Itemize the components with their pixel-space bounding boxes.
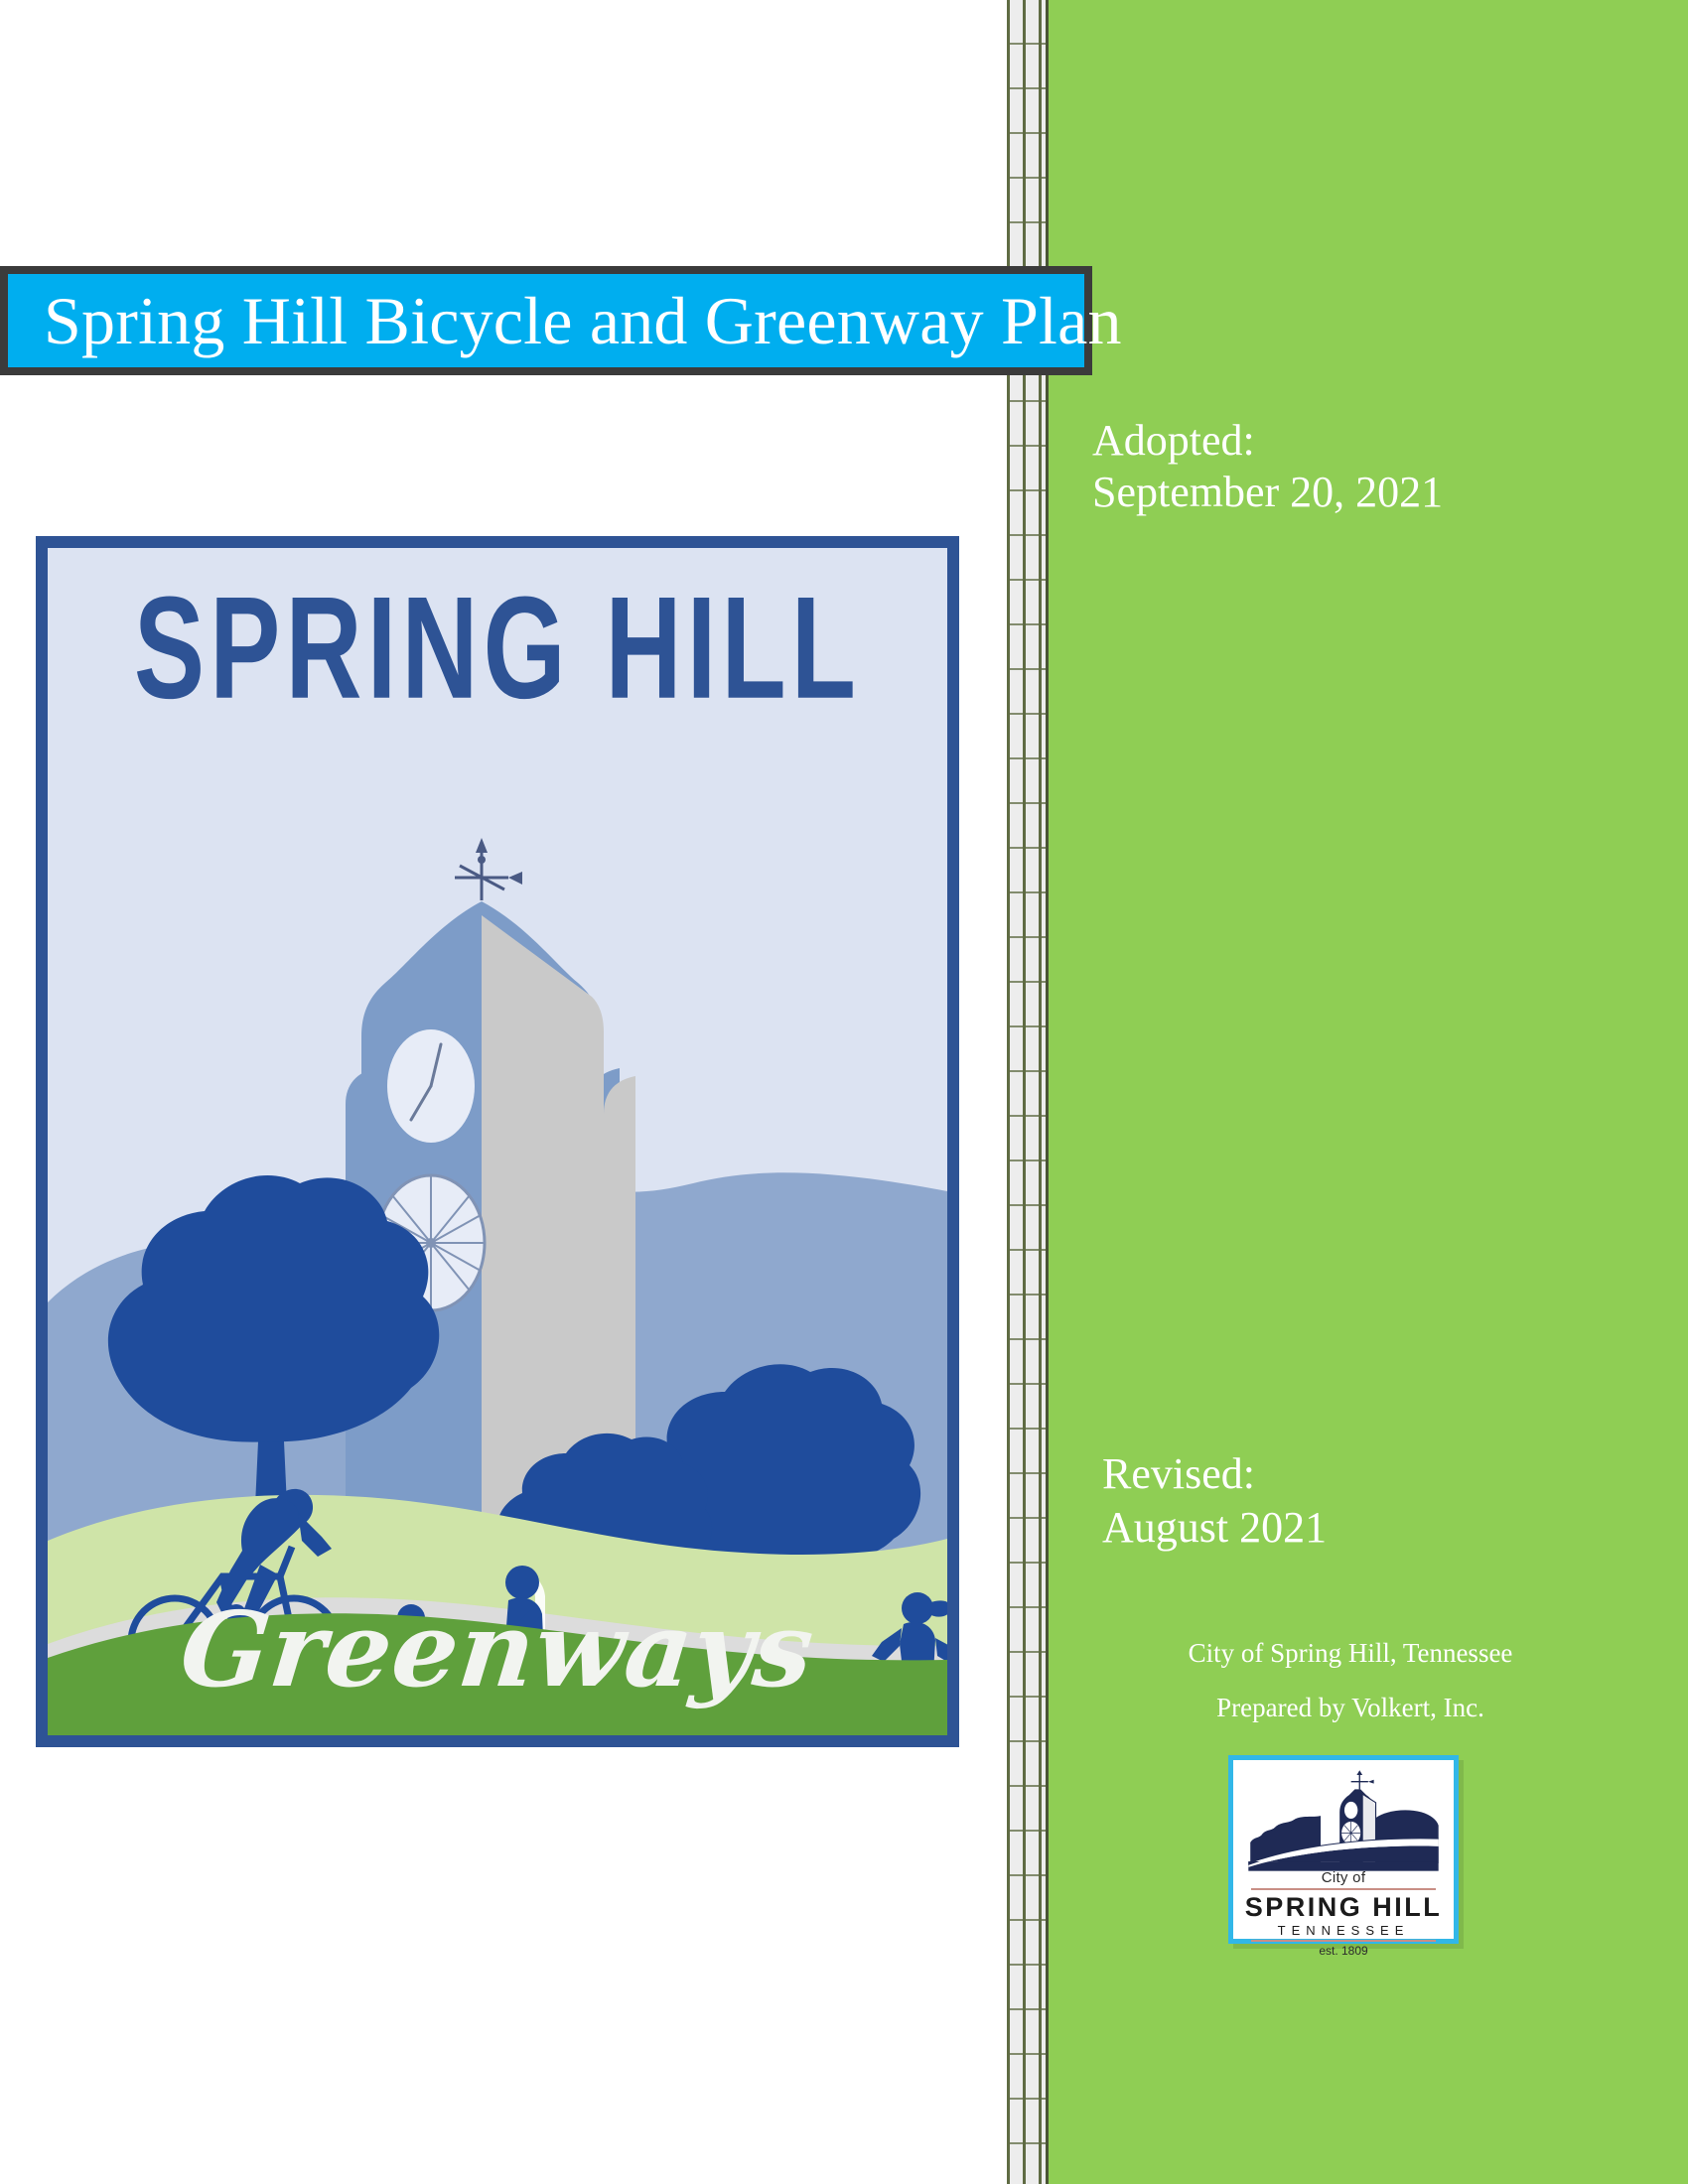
revised-date: August 2021 [1102,1501,1688,1555]
seal-skyline-icon [1233,1766,1454,1873]
credits-block: City of Spring Hill, Tennessee Prepared … [1053,1640,1648,1749]
clock-face-icon [387,1029,475,1143]
credit-city: City of Spring Hill, Tennessee [1053,1640,1648,1667]
seal-rule-bottom [1251,1940,1436,1942]
cover-illustration-inner: SPRING HILL Greenways [48,548,947,1735]
adopted-label: Adopted: [1092,415,1688,467]
adopted-date-block: Adopted: September 20, 2021 [1092,415,1688,518]
seal-established-label: est. 1809 [1233,1944,1454,1958]
adopted-date: September 20, 2021 [1092,467,1688,518]
credit-prepared-by: Prepared by Volkert, Inc. [1053,1695,1648,1721]
cover-illustration: SPRING HILL Greenways [36,536,959,1747]
seal-city-of-label: City of [1233,1869,1454,1886]
revised-date-block: Revised: August 2021 [1102,1447,1688,1554]
revised-label: Revised: [1102,1447,1688,1501]
cover-scene-graphic [48,548,947,1735]
page-title: Spring Hill Bicycle and Greenway Plan [8,287,1122,354]
seal-rule-top [1251,1888,1436,1890]
seal-state-name: TENNESSEE [1233,1923,1454,1938]
city-of-spring-hill-seal: City of SPRING HILL TENNESSEE est. 1809 [1228,1755,1459,1944]
document-title-banner: Spring Hill Bicycle and Greenway Plan [0,266,1092,375]
seal-city-name: SPRING HILL [1233,1892,1454,1923]
